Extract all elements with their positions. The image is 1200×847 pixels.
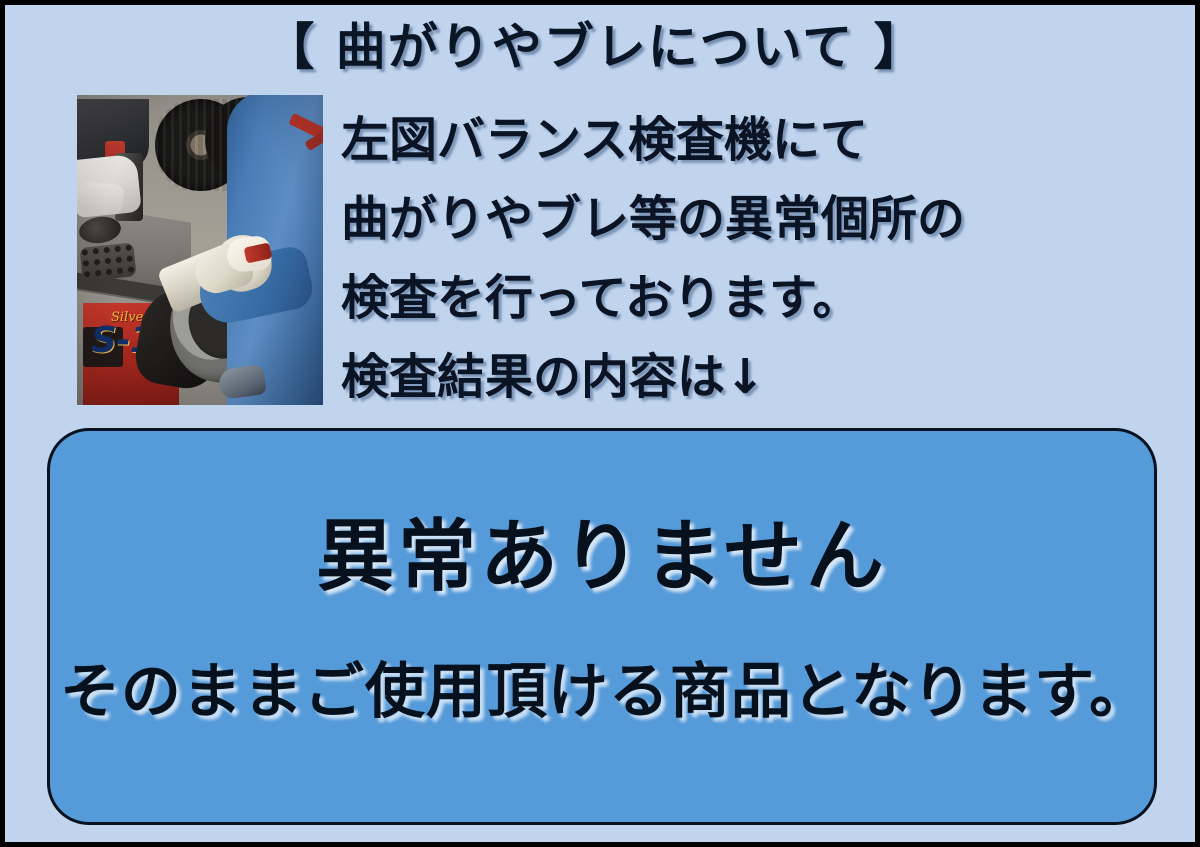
page-title: 【 曲がりやブレについて 】 [5, 17, 1185, 77]
description-line-3: 検査を行っております。 [341, 259, 1161, 338]
result-callout-box: 異常ありません そのままご使用頂ける商品となります。 [47, 428, 1157, 825]
photo-vignette [77, 95, 323, 405]
description-line-1: 左図バランス検査機にて [341, 101, 1161, 180]
balance-inspection-photo: Silver S-10 [77, 95, 323, 405]
description-paragraph: 左図バランス検査機にて 曲がりやブレ等の異常個所の 検査を行っております。 検査… [341, 101, 1161, 417]
inspection-result-card: 【 曲がりやブレについて 】 Silver S-10 [0, 0, 1200, 847]
result-headline: 異常ありません [50, 509, 1154, 605]
result-subline: そのままご使用頂ける商品となります。 [56, 653, 1154, 731]
description-line-2: 曲がりやブレ等の異常個所の [341, 180, 1161, 259]
description-line-4: 検査結果の内容は↓ [341, 338, 1161, 417]
